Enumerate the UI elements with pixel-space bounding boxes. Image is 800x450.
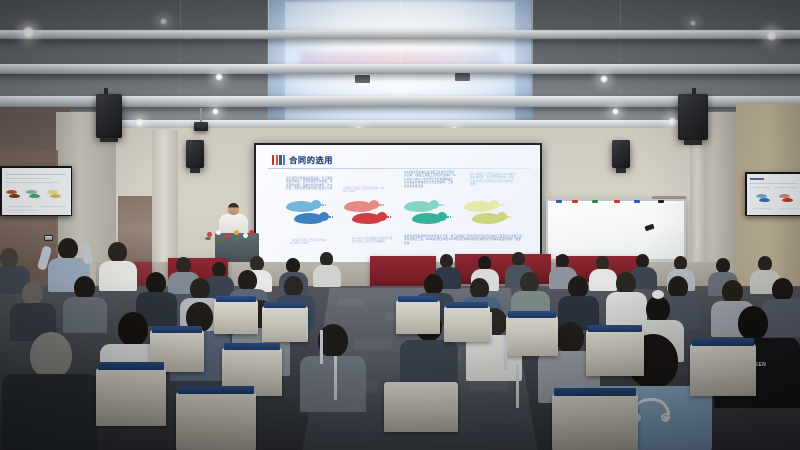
slide-text-block: GF-0215-2008版本示范文本大量参考国际工程合同范本编制 <box>352 237 394 244</box>
auditorium-seat <box>384 382 458 432</box>
downlight-icon <box>215 73 223 81</box>
hair-tie <box>652 290 664 299</box>
ceiling-vent-icon <box>455 73 470 81</box>
seat-accent <box>588 325 642 332</box>
monitor-left-screen <box>2 168 71 215</box>
downlight-icon <box>135 118 144 127</box>
downlight-icon <box>766 30 777 41</box>
ceiling-vent-icon <box>355 75 370 83</box>
projection-screen: 合同的选用 对于项目大型建设项目来说，为了确保项目的成功，合同的选用至关重要，在… <box>254 143 542 267</box>
monitor-footprint-icon <box>26 190 41 199</box>
slide-text-block: 重庆各类型最具特色的大型设计工程、施工总承包工程均涉及合同示范文本的工程及多层次… <box>404 235 522 245</box>
auditorium-seat <box>96 368 166 426</box>
monitor-right <box>745 172 800 216</box>
monitor-footprint-icon <box>47 190 62 199</box>
whiteboard-marker <box>614 200 620 203</box>
seat-accent <box>178 386 254 394</box>
auditorium-seat <box>690 344 756 396</box>
slide-text-block: 2017版施工合同示范文本与2013版示范文本相比，在合同条款结构、风险分担机制… <box>470 173 516 187</box>
seat-accent <box>98 362 164 370</box>
seat-accent <box>508 311 556 318</box>
speaker-left-inner <box>186 140 204 168</box>
downlight-icon <box>160 18 167 25</box>
monitor-footprint-icon <box>779 194 794 203</box>
whiteboard-marker <box>634 200 640 203</box>
auditorium-seat <box>586 330 644 376</box>
seat-leg <box>334 356 337 400</box>
auditorium-seat <box>552 394 638 450</box>
downlight-icon <box>600 75 608 83</box>
speaker-left-outer <box>96 94 122 138</box>
footprint-row <box>286 201 518 229</box>
slide-text-block: 2013版示范文本与设计施工总承包合同示范文本、《建设工程施工合同示范文本》（G… <box>404 171 456 188</box>
auditorium-seat <box>444 306 490 342</box>
slide-title-rule <box>268 168 530 169</box>
seat-leg <box>504 336 507 370</box>
ceiling-slat <box>0 30 800 39</box>
seat-leg <box>516 364 519 408</box>
whiteboard-marker <box>658 200 664 203</box>
speaker-right-outer <box>678 94 708 140</box>
seat-accent <box>264 302 306 308</box>
speaker-mount <box>100 138 118 142</box>
slide-text-block: （建设工程施工合同示范文本）GF-2013-0201 <box>290 239 330 246</box>
downlight-icon <box>690 20 696 26</box>
seat-leg <box>490 312 492 338</box>
monitor-left <box>0 166 72 216</box>
wall-column <box>152 130 178 270</box>
auditorium-seat <box>262 306 308 342</box>
slide-title-row: 合同的选用 <box>272 154 333 166</box>
auditorium-seat <box>396 300 440 334</box>
slide-surface: 合同的选用 对于项目大型建设项目来说，为了确保项目的成功，合同的选用至关重要，在… <box>256 145 540 265</box>
speaker-mount <box>190 168 200 173</box>
seat-accent <box>152 326 202 333</box>
ceiling-slat <box>0 64 800 74</box>
seat-accent <box>692 338 754 346</box>
conference-hall-photo: 合同的选用 对于项目大型建设项目来说，为了确保项目的成功，合同的选用至关重要，在… <box>0 0 800 450</box>
monitor-right-screen <box>747 174 800 215</box>
footprint-1-icon <box>286 201 333 227</box>
monitor-footprint-icon <box>6 190 21 199</box>
slide-text-block: 对于项目大型建设项目来说，为了确保项目的成功，合同的选用至关重要，在项目的前端，… <box>286 177 334 191</box>
slide-text-block: 《建设工程施工合同示范文本》GF-2017-0201 <box>342 187 386 194</box>
speaker-right-inner <box>612 140 630 168</box>
downlight-icon <box>612 108 619 115</box>
whiteboard-marker <box>572 200 578 203</box>
whiteboard-marker <box>592 200 598 203</box>
auditorium-seat <box>214 300 258 334</box>
downlight-icon <box>22 26 35 39</box>
seat-leg <box>320 330 323 364</box>
seat-accent <box>554 388 636 396</box>
monitor-footprint-icon <box>756 194 771 203</box>
seat-accent <box>446 302 488 308</box>
speaker-mount <box>616 168 626 173</box>
whiteboard <box>546 199 686 261</box>
flower-arrangement <box>203 228 255 244</box>
title-accent-bars-icon <box>272 155 285 165</box>
footprint-4-icon <box>464 201 511 227</box>
seat-accent <box>398 296 438 302</box>
downlight-icon <box>668 117 677 126</box>
seat-leg <box>306 312 308 338</box>
footprint-3-icon <box>404 201 451 227</box>
ceiling-projector <box>194 122 208 131</box>
downlight-icon <box>212 108 219 115</box>
auditorium-seat <box>506 316 558 356</box>
seat-accent <box>224 343 280 350</box>
speaker-mount <box>684 140 702 145</box>
footprint-2-icon <box>344 201 391 227</box>
smartphone-icon <box>44 235 53 241</box>
presenter-head <box>228 203 239 215</box>
whiteboard-marker <box>556 200 562 203</box>
auditorium-seat <box>176 392 256 450</box>
slide-title: 合同的选用 <box>289 154 333 166</box>
seat-accent <box>216 296 256 302</box>
